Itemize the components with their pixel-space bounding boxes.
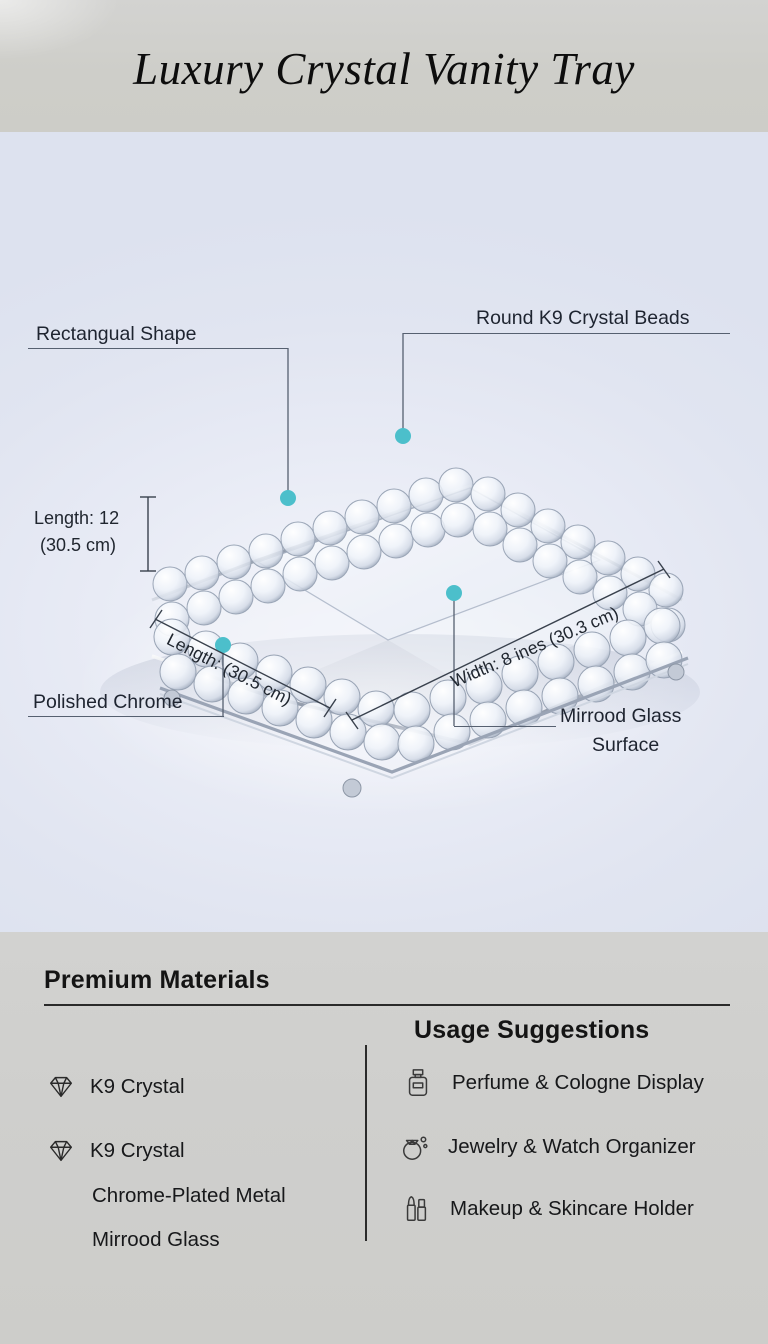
usage-item-0: Perfume & Cologne Display bbox=[404, 1068, 704, 1098]
material-label: K9 Crystal bbox=[90, 1139, 185, 1163]
height-dimension-line1: Length: 12 bbox=[34, 508, 119, 529]
material-item-1: K9 Crystal bbox=[46, 1136, 185, 1166]
height-dimension-line2: (30.5 cm) bbox=[40, 535, 116, 556]
callout-underline-round-k9-crystal-beads bbox=[403, 333, 730, 334]
materials-heading: Premium Materials bbox=[44, 966, 270, 995]
usage-label: Jewelry & Watch Organizer bbox=[448, 1135, 696, 1159]
page-title: Luxury Crystal Vanity Tray bbox=[133, 43, 635, 95]
callout-label-mirrood-glass-line1: Mirrood Glass bbox=[560, 704, 681, 728]
perfume-bottle-icon bbox=[404, 1068, 434, 1098]
usage-label: Makeup & Skincare Holder bbox=[450, 1197, 694, 1221]
material-item-2: Chrome-Plated Metal bbox=[92, 1184, 286, 1208]
materials-heading-underline bbox=[44, 1004, 730, 1006]
usage-item-1: Jewelry & Watch Organizer bbox=[400, 1132, 696, 1162]
material-label: K9 Crystal bbox=[90, 1075, 185, 1099]
header-band: Luxury Crystal Vanity Tray bbox=[0, 0, 768, 132]
callout-underline-polished-chrome bbox=[28, 716, 224, 717]
crystal-tray-illustration bbox=[0, 132, 768, 932]
material-label: Mirrood Glass bbox=[92, 1228, 220, 1252]
callout-underline-rectangual-shape bbox=[28, 348, 288, 349]
callout-underline-mirrood-glass bbox=[454, 726, 556, 727]
product-diagram-panel: Rectangual Shape Round K9 Crystal Beads … bbox=[0, 132, 768, 932]
diamond-icon bbox=[46, 1072, 76, 1102]
material-item-3: Mirrood Glass bbox=[92, 1228, 220, 1252]
callout-label-rectangual-shape: Rectangual Shape bbox=[36, 322, 196, 346]
usage-label: Perfume & Cologne Display bbox=[452, 1071, 704, 1095]
material-label: Chrome-Plated Metal bbox=[92, 1184, 286, 1208]
material-item-0: K9 Crystal bbox=[46, 1072, 185, 1102]
callout-label-polished-chrome: Polished Chrome bbox=[33, 690, 183, 714]
section-divider bbox=[365, 1045, 367, 1241]
ring-icon bbox=[400, 1132, 430, 1162]
usage-item-2: Makeup & Skincare Holder bbox=[402, 1194, 694, 1224]
callout-label-mirrood-glass-line2: Surface bbox=[592, 733, 659, 757]
info-panel: Premium Materials Usage Suggestions K9 C… bbox=[0, 932, 768, 1344]
lipstick-icon bbox=[402, 1194, 432, 1224]
usage-heading: Usage Suggestions bbox=[414, 1016, 649, 1045]
diamond-icon bbox=[46, 1136, 76, 1166]
callout-label-round-k9-crystal-beads: Round K9 Crystal Beads bbox=[476, 306, 690, 330]
infographic-page: Luxury Crystal Vanity Tray bbox=[0, 0, 768, 1344]
